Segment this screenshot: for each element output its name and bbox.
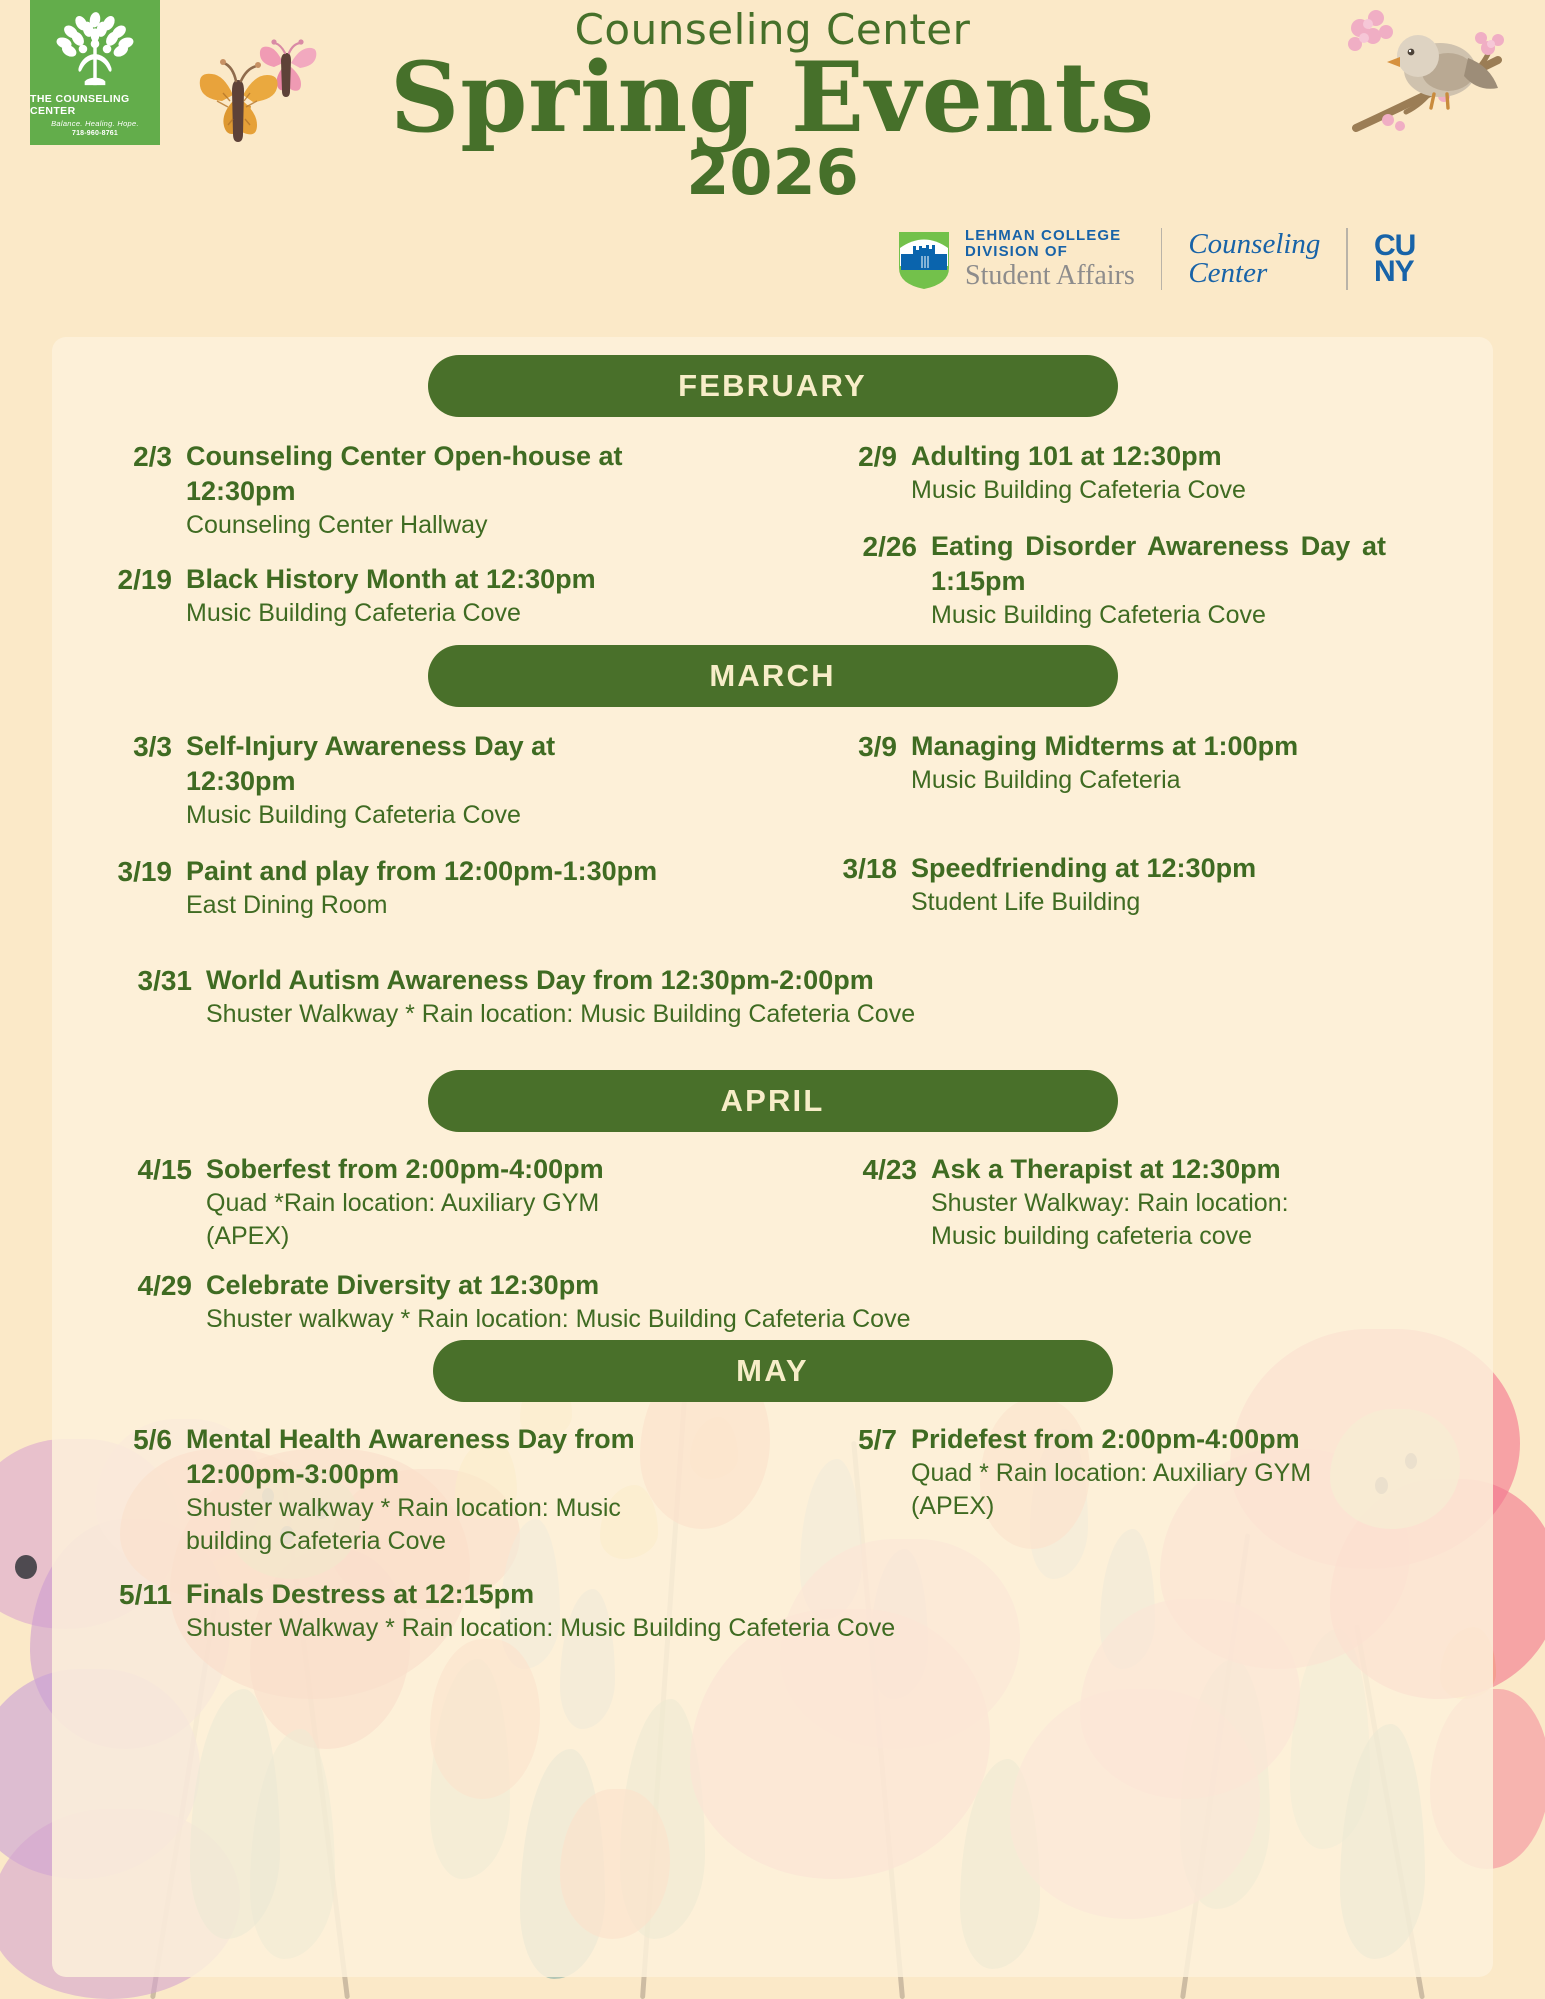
event-date: 4/15 xyxy=(62,1152,192,1186)
event-item: 3/3 Self-Injury Awareness Day at 12:30pm… xyxy=(62,729,787,832)
event-date: 3/3 xyxy=(62,729,172,763)
event-location: Shuster walkway * Rain location: Music B… xyxy=(206,1303,911,1336)
event-date: 2/19 xyxy=(62,562,172,596)
event-location: East Dining Room xyxy=(186,889,657,922)
month-pill-february: FEBRUARY xyxy=(428,355,1118,417)
event-item: 2/19 Black History Month at 12:30pm Musi… xyxy=(62,562,787,630)
event-date: 3/19 xyxy=(62,854,172,888)
event-item: 5/6 Mental Health Awareness Day from 12:… xyxy=(62,1422,787,1557)
event-location: Music Building Cafeteria Cove xyxy=(931,599,1386,632)
event-name: Soberfest from 2:00pm-4:00pm xyxy=(206,1152,686,1187)
march-left-column: 3/3 Self-Injury Awareness Day at 12:30pm… xyxy=(52,729,787,921)
event-location: Shuster Walkway * Rain location: Music B… xyxy=(186,1612,895,1645)
event-name: Finals Destress at 12:15pm xyxy=(186,1577,895,1612)
title-line-2: Spring Events xyxy=(0,50,1545,146)
division-of-text: DIVISION OF xyxy=(965,244,1135,260)
event-item: 4/23 Ask a Therapist at 12:30pm Shuster … xyxy=(787,1152,1487,1252)
month-section-april: APRIL 4/15 Soberfest from 2:00pm-4:00pm … xyxy=(52,1070,1493,1336)
event-name: Mental Health Awareness Day from 12:00pm… xyxy=(186,1422,696,1492)
event-location: Music Building Cafeteria Cove xyxy=(186,597,596,630)
event-location: Music Building Cafeteria Cove xyxy=(186,799,656,832)
event-item: 3/9 Managing Midterms at 1:00pm Music Bu… xyxy=(787,729,1487,797)
month-section-march: MARCH 3/3 Self-Injury Awareness Day at 1… xyxy=(52,645,1493,1031)
title-line-3-year: 2026 xyxy=(0,142,1545,204)
poster-title-block: Counseling Center Spring Events 2026 xyxy=(0,8,1545,204)
event-date: 2/26 xyxy=(787,529,917,563)
event-location: Student Life Building xyxy=(911,886,1256,919)
event-date: 5/7 xyxy=(787,1422,897,1456)
event-name: Eating Disorder Awareness Day at 1:15pm xyxy=(931,529,1386,599)
event-date: 3/18 xyxy=(787,851,897,885)
event-name: Adulting 101 at 12:30pm xyxy=(911,439,1246,474)
lockup-divider-1 xyxy=(1161,228,1163,290)
event-item: 4/15 Soberfest from 2:00pm-4:00pm Quad *… xyxy=(62,1152,787,1252)
event-date: 3/9 xyxy=(787,729,897,763)
event-location: Shuster walkway * Rain location: Music b… xyxy=(186,1492,666,1557)
month-pill-march: MARCH xyxy=(428,645,1118,707)
event-name: Celebrate Diversity at 12:30pm xyxy=(206,1268,911,1303)
month-pill-may: MAY xyxy=(433,1340,1113,1402)
event-name: Managing Midterms at 1:00pm xyxy=(911,729,1298,764)
cuny-logo-line-2: NY xyxy=(1374,259,1415,285)
lehman-college-text: LEHMAN COLLEGE xyxy=(965,228,1135,244)
spring-events-poster: THE COUNSELING CENTER Balance. Healing. … xyxy=(0,0,1545,1999)
event-name: Speedfriending at 12:30pm xyxy=(911,851,1256,886)
event-location: Music Building Cafeteria xyxy=(911,764,1298,797)
counseling-lockup-line-1: Counseling xyxy=(1188,230,1320,259)
counseling-lockup-line-2: Center xyxy=(1188,259,1320,288)
event-name: Self-Injury Awareness Day at 12:30pm xyxy=(186,729,656,799)
february-left-column: 2/3 Counseling Center Open-house at 12:3… xyxy=(52,439,787,631)
event-location: Quad *Rain location: Auxiliary GYM (APEX… xyxy=(206,1187,686,1252)
institution-logo-lockup: LEHMAN COLLEGE DIVISION OF Student Affai… xyxy=(895,228,1415,291)
event-item: 3/18 Speedfriending at 12:30pm Student L… xyxy=(787,851,1487,919)
may-left-column: 5/6 Mental Health Awareness Day from 12:… xyxy=(52,1422,787,1557)
february-right-column: 2/9 Adulting 101 at 12:30pm Music Buildi… xyxy=(787,439,1487,631)
event-item: 5/7 Pridefest from 2:00pm-4:00pm Quad * … xyxy=(787,1422,1487,1522)
event-date: 5/11 xyxy=(62,1577,172,1611)
event-item: 2/3 Counseling Center Open-house at 12:3… xyxy=(62,439,787,542)
event-item: 2/26 Eating Disorder Awareness Day at 1:… xyxy=(787,529,1487,632)
event-item: 5/11 Finals Destress at 12:15pm Shuster … xyxy=(52,1577,1493,1645)
event-date: 2/3 xyxy=(62,439,172,473)
event-date: 4/29 xyxy=(62,1268,192,1302)
event-date: 4/23 xyxy=(787,1152,917,1186)
month-section-february: FEBRUARY 2/3 Counseling Center Open-hous… xyxy=(52,355,1493,631)
event-item: 2/9 Adulting 101 at 12:30pm Music Buildi… xyxy=(787,439,1487,507)
event-date: 2/9 xyxy=(787,439,897,473)
month-pill-april: APRIL xyxy=(428,1070,1118,1132)
student-affairs-text: Student Affairs xyxy=(965,261,1135,290)
event-item: 4/29 Celebrate Diversity at 12:30pm Shus… xyxy=(52,1268,1493,1336)
april-left-column: 4/15 Soberfest from 2:00pm-4:00pm Quad *… xyxy=(52,1152,787,1252)
event-item: 3/19 Paint and play from 12:00pm-1:30pm … xyxy=(62,854,787,922)
march-right-column: 3/9 Managing Midterms at 1:00pm Music Bu… xyxy=(787,729,1487,921)
event-location: Shuster Walkway * Rain location: Music B… xyxy=(206,998,915,1031)
event-date: 5/6 xyxy=(62,1422,172,1456)
event-date: 3/31 xyxy=(62,963,192,997)
april-right-column: 4/23 Ask a Therapist at 12:30pm Shuster … xyxy=(787,1152,1487,1252)
event-item: 3/31 World Autism Awareness Day from 12:… xyxy=(52,963,1493,1031)
event-name: Counseling Center Open-house at 12:30pm xyxy=(186,439,726,509)
event-location: Music Building Cafeteria Cove xyxy=(911,474,1246,507)
event-name: Paint and play from 12:00pm-1:30pm xyxy=(186,854,657,889)
event-location: Shuster Walkway: Rain location: Music bu… xyxy=(931,1187,1351,1252)
event-name: Pridefest from 2:00pm-4:00pm xyxy=(911,1422,1361,1457)
month-section-may: MAY 5/6 Mental Health Awareness Day from… xyxy=(52,1340,1493,1645)
may-right-column: 5/7 Pridefest from 2:00pm-4:00pm Quad * … xyxy=(787,1422,1487,1557)
event-name: Ask a Therapist at 12:30pm xyxy=(931,1152,1351,1187)
event-name: Black History Month at 12:30pm xyxy=(186,562,596,597)
lockup-divider-2 xyxy=(1346,228,1348,290)
lehman-shield-icon xyxy=(895,228,953,290)
event-location: Quad * Rain location: Auxiliary GYM (APE… xyxy=(911,1457,1361,1522)
event-location: Counseling Center Hallway xyxy=(186,509,726,542)
event-name: World Autism Awareness Day from 12:30pm-… xyxy=(206,963,915,998)
